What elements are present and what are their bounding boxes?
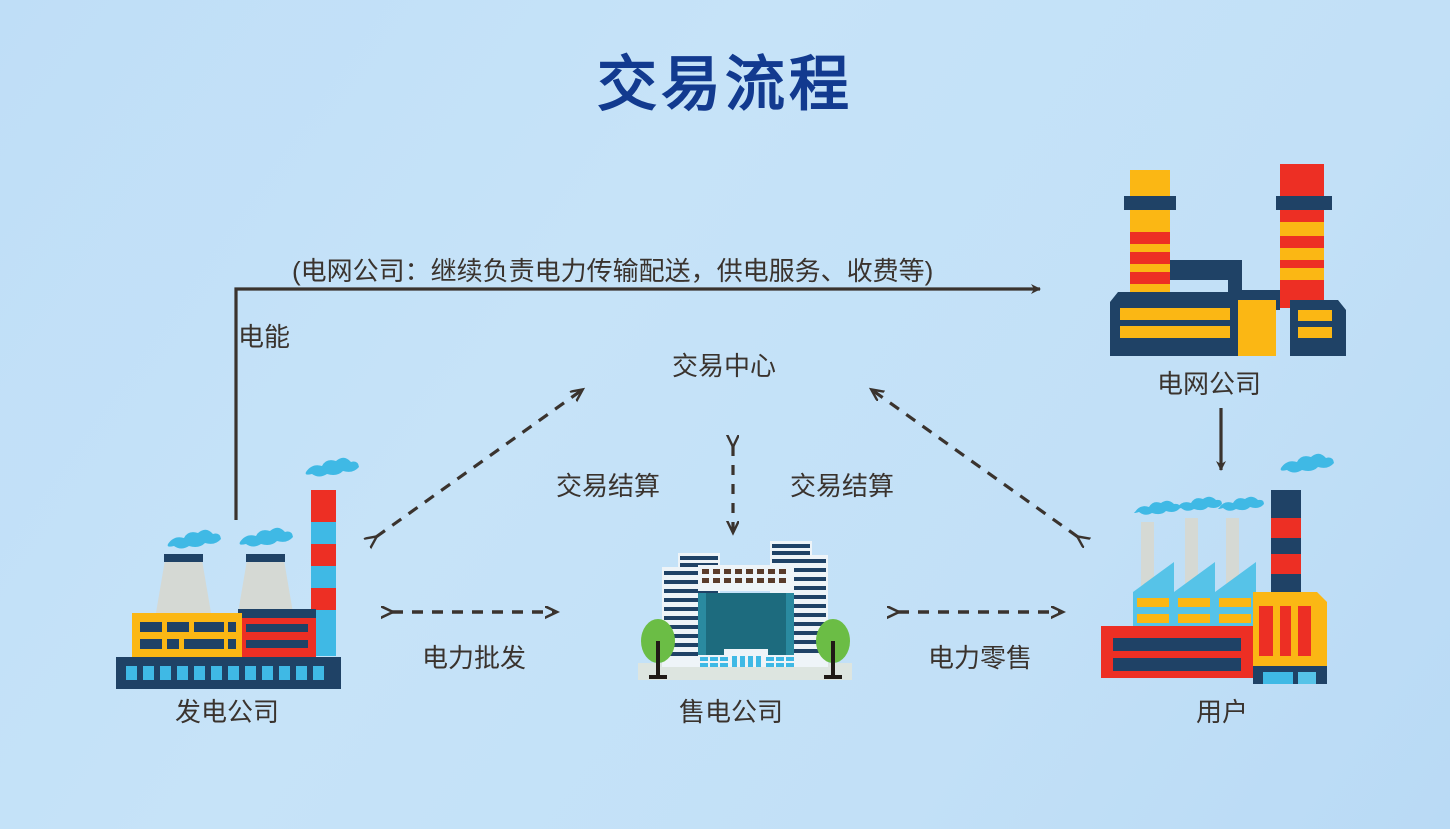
power-retail-label: 电力零售 (928, 645, 1032, 671)
flow-settlement-right (872, 390, 1078, 537)
entity-label-user: 用户 (1196, 699, 1248, 725)
grid-company-note: (电网公司：继续负责电力传输配送，供电服务、收费等) (292, 258, 933, 284)
settlement-left-label: 交易结算 (556, 473, 660, 499)
trading-center-label: 交易中心 (672, 353, 776, 379)
entity-label-grid: 电网公司 (1157, 371, 1261, 397)
power-wholesale-label: 电力批发 (422, 645, 526, 671)
energy-flow-label: 电能 (238, 324, 290, 350)
power-plant-icon (110, 450, 370, 690)
diagram-canvas: 交易流程 (0, 0, 1450, 829)
entity-label-retailer: 售电公司 (679, 699, 783, 725)
settlement-right-label: 交易结算 (790, 473, 894, 499)
factory-icon (1095, 450, 1370, 690)
grid-plant-icon (1090, 160, 1380, 360)
office-building-icon (620, 525, 870, 690)
page-title: 交易流程 (0, 52, 1450, 118)
entity-label-generation: 发电公司 (175, 699, 279, 725)
flow-settlement-left (376, 390, 582, 537)
